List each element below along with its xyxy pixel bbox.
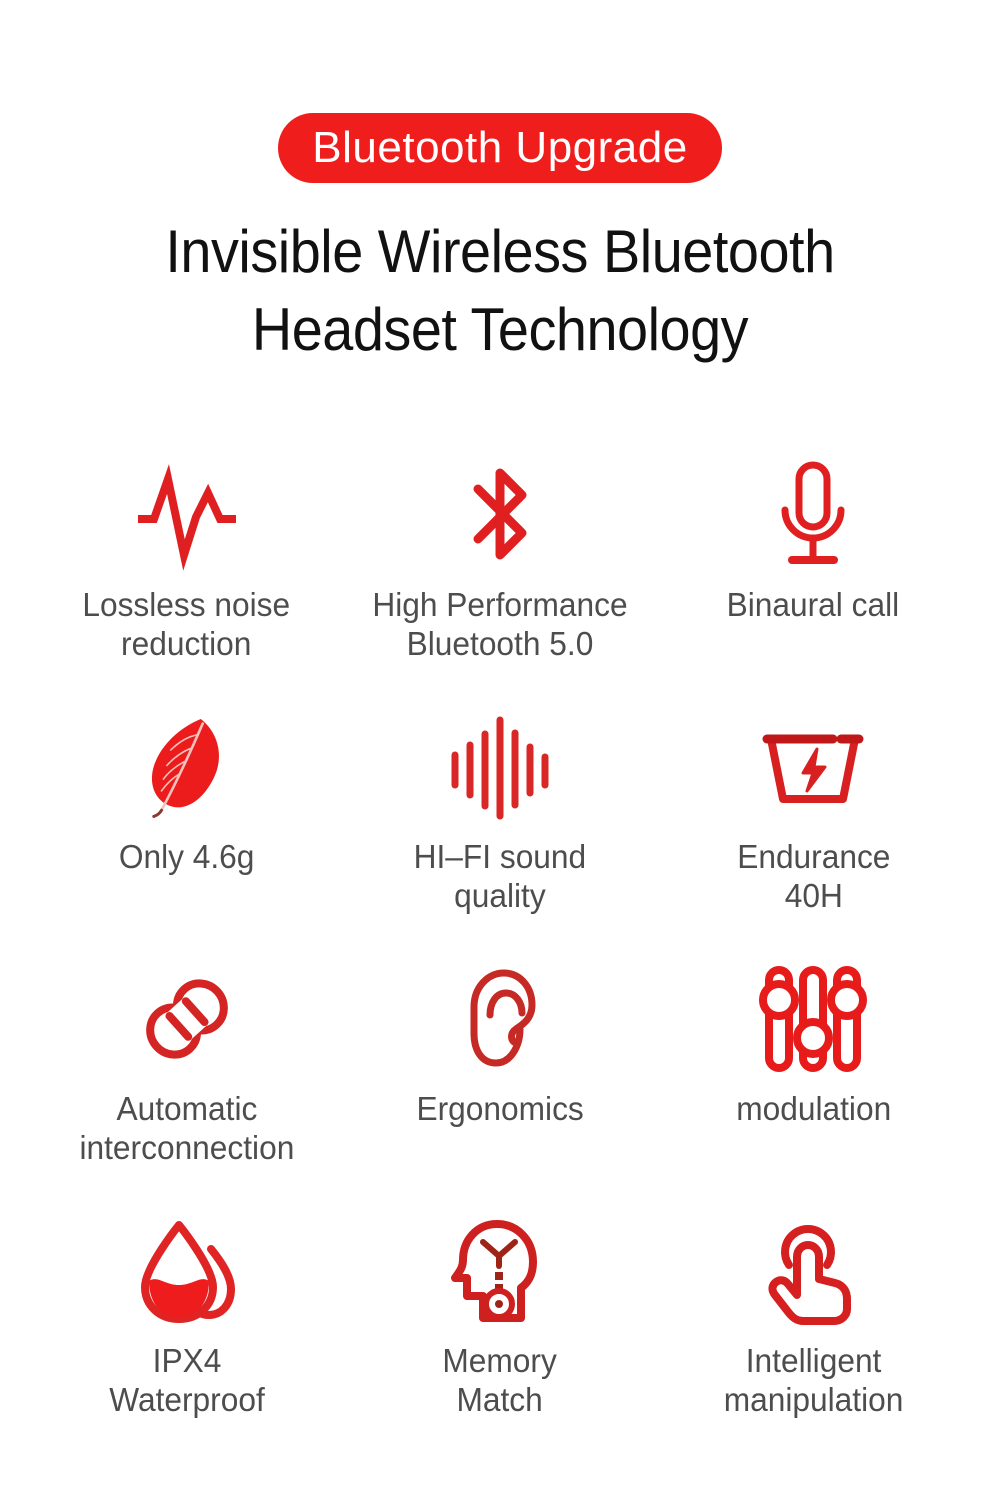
feature-label: HI–FI sound quality — [414, 837, 587, 915]
bluetooth-upgrade-badge: Bluetooth Upgrade — [278, 113, 721, 183]
feature-label: Memory Match — [443, 1341, 557, 1419]
touch-hand-icon — [763, 1211, 863, 1331]
feature-item-memory-match: Memory Match — [343, 1211, 656, 1463]
feature-label: Ergonomics — [416, 1089, 583, 1128]
page-title: Invisible Wireless Bluetooth Headset Tec… — [35, 213, 965, 369]
water-drop-icon — [131, 1211, 243, 1331]
feature-item-ergonomics: Ergonomics — [343, 959, 656, 1211]
sliders-icon — [761, 959, 865, 1079]
chain-link-icon — [132, 959, 242, 1079]
feature-item-weight: Only 4.6g — [30, 707, 343, 959]
page-title-line-1: Invisible Wireless Bluetooth — [35, 213, 965, 291]
feature-item-endurance: Endurance 40H — [657, 707, 970, 959]
page-title-line-2: Headset Technology — [35, 291, 965, 369]
feature-item-intelligent-manipulation: Intelligent manipulation — [657, 1211, 970, 1463]
head-memory-icon — [449, 1211, 551, 1331]
feature-item-binaural-call: Binaural call — [657, 455, 970, 707]
equalizer-icon — [445, 707, 555, 827]
feature-item-auto-interconnection: Automatic interconnection — [30, 959, 343, 1211]
feature-label: Binaural call — [727, 585, 900, 624]
battery-bolt-icon — [759, 707, 867, 827]
feature-item-bluetooth-5: High Performance Bluetooth 5.0 — [343, 455, 656, 707]
feature-label: IPX4 Waterproof — [109, 1341, 265, 1419]
waveform-icon — [132, 455, 242, 575]
feature-infographic-page: Bluetooth Upgrade Invisible Wireless Blu… — [0, 0, 1000, 1509]
feature-label: High Performance Bluetooth 5.0 — [372, 585, 627, 663]
bluetooth-icon — [454, 455, 546, 575]
feature-item-hifi-sound: HI–FI sound quality — [343, 707, 656, 959]
feature-item-waterproof: IPX4 Waterproof — [30, 1211, 343, 1463]
microphone-icon — [768, 455, 858, 575]
feature-label: Endurance 40H — [737, 837, 890, 915]
ear-icon — [458, 959, 542, 1079]
badge-container: Bluetooth Upgrade — [0, 113, 1000, 183]
feature-item-lossless-noise-reduction: Lossless noise reduction — [30, 455, 343, 707]
feature-label: Intelligent manipulation — [724, 1341, 904, 1419]
feather-icon — [137, 707, 237, 827]
feature-label: Only 4.6g — [119, 837, 255, 876]
feature-label: Automatic interconnection — [79, 1089, 294, 1167]
feature-grid: Lossless noise reduction High Performanc… — [30, 455, 970, 1463]
feature-label: modulation — [736, 1089, 891, 1128]
feature-item-modulation: modulation — [657, 959, 970, 1211]
feature-label: Lossless noise reduction — [83, 585, 291, 663]
